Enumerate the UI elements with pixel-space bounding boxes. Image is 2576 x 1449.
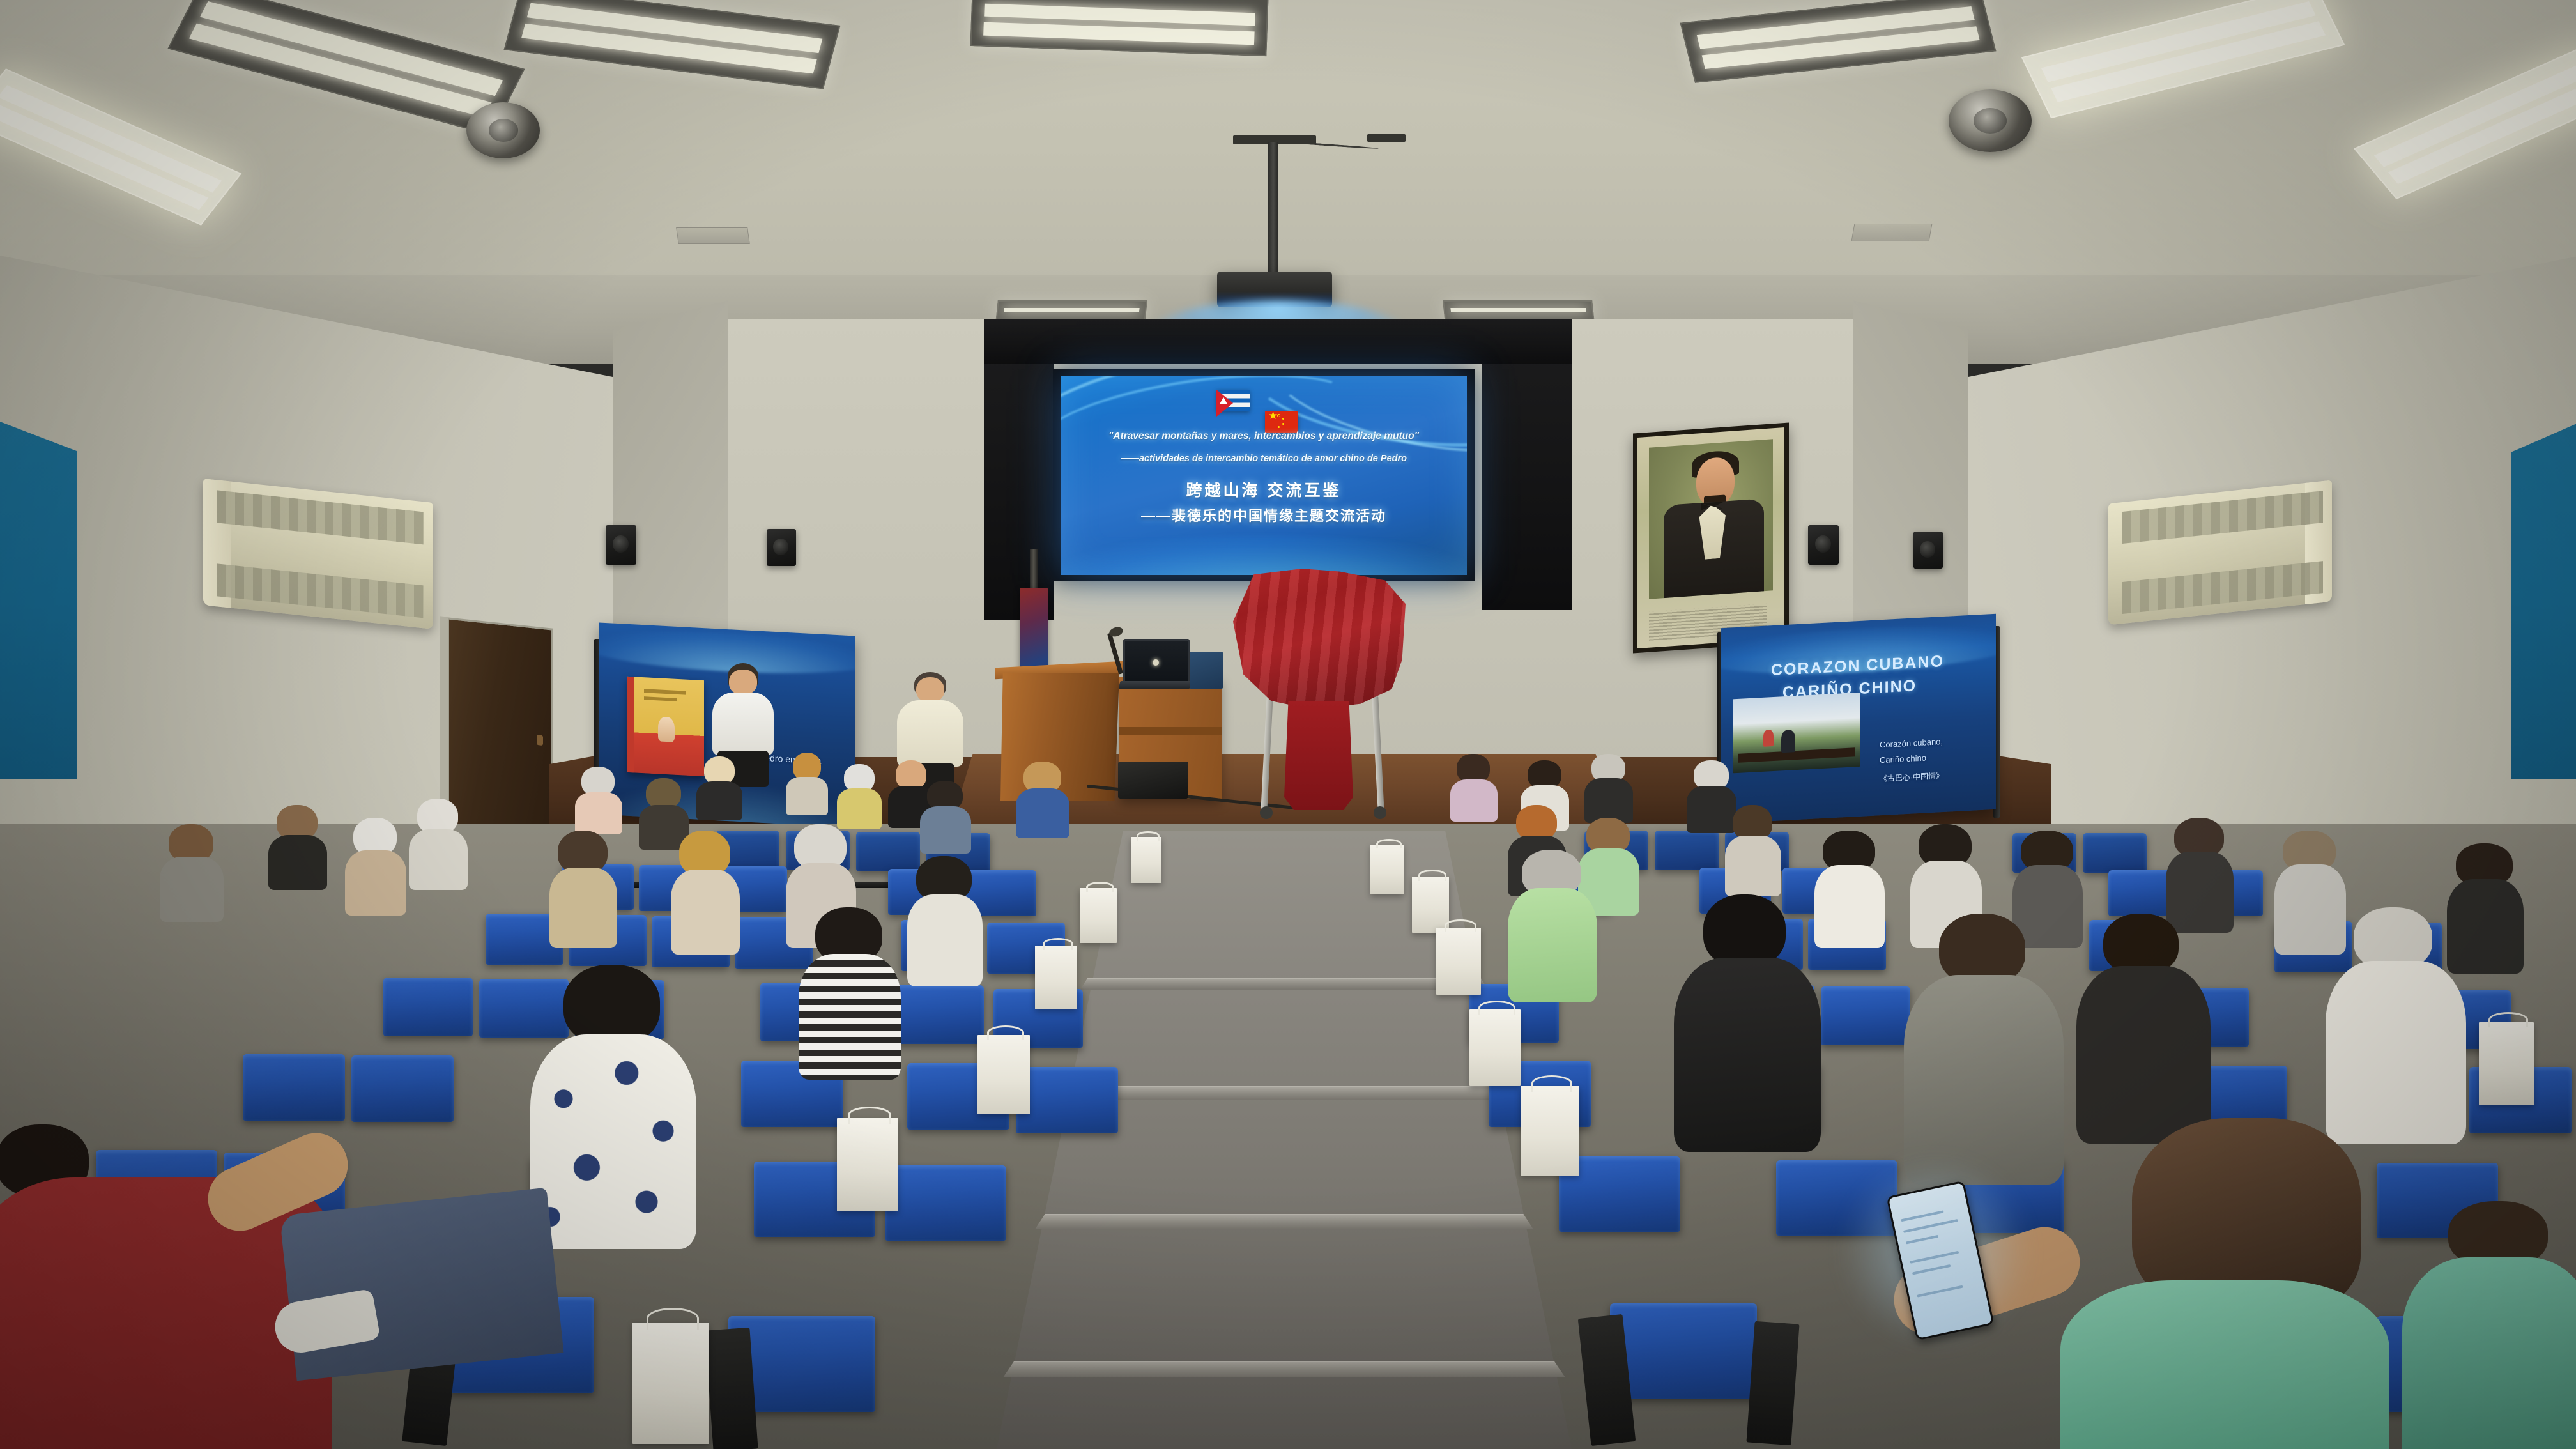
banner-right-caption-3: 《古巴心·中国情》 <box>1880 770 1943 784</box>
ceiling-dome-speaker <box>466 102 540 158</box>
seat-armrest <box>1746 1321 1799 1445</box>
aisle-step <box>1035 1214 1533 1229</box>
av-cart-shelf <box>1119 727 1222 735</box>
portrait-frame <box>1633 422 1789 653</box>
auditorium-seat[interactable] <box>885 1165 1006 1241</box>
gift-bag[interactable] <box>837 1118 898 1211</box>
proscenium-panel-left <box>984 358 1054 620</box>
proscenium-header <box>984 319 1572 364</box>
audience-member <box>1725 805 1781 894</box>
gift-bag[interactable] <box>632 1322 709 1444</box>
projector-mount-pole <box>1268 142 1278 276</box>
wall-speaker <box>606 525 636 565</box>
auditorium-seat[interactable] <box>351 1055 454 1122</box>
audience-member <box>268 805 327 888</box>
gift-bag[interactable] <box>977 1035 1030 1114</box>
audience-member <box>696 756 742 819</box>
gift-bag[interactable] <box>2479 1022 2534 1105</box>
teal-wall-panel-right <box>2511 422 2576 779</box>
ceiling-dome-speaker <box>1949 89 2032 152</box>
easel-wheel <box>1260 806 1273 819</box>
audience-member <box>2076 914 2211 1131</box>
auditorium-seat[interactable] <box>243 1054 345 1121</box>
auditorium-seat[interactable] <box>1610 1303 1757 1399</box>
audience-member <box>345 818 406 914</box>
slide-spanish-subtitle: ——actividades de intercambio temático de… <box>1061 454 1467 464</box>
projector-ceiling-plate <box>1367 134 1406 142</box>
ceiling-vent <box>676 227 750 244</box>
gift-bag[interactable] <box>1035 946 1077 1009</box>
gift-bag[interactable] <box>1080 888 1117 943</box>
audience-member-black-blazer <box>1674 894 1821 1137</box>
audience-member <box>1450 754 1498 820</box>
gift-bag[interactable] <box>1469 1009 1521 1086</box>
audience-member <box>786 753 828 814</box>
audience-member-print-dress <box>530 965 696 1233</box>
audience-member-jeans <box>280 1188 564 1381</box>
projection-screen: "Atravesar montañas y mares, intercambio… <box>1061 376 1467 575</box>
gift-bag[interactable] <box>1370 845 1404 894</box>
aisle-step <box>1061 1086 1508 1100</box>
gift-bag[interactable] <box>1436 928 1481 995</box>
wall-air-conditioner-right <box>2108 480 2332 625</box>
presentation-laptop[interactable] <box>1123 639 1190 686</box>
audience-member <box>2402 1201 2576 1449</box>
audience-member <box>907 856 983 984</box>
wall-air-conditioner-left <box>203 479 433 629</box>
audience-member <box>1814 831 1885 946</box>
slide-chinese-subtitle: ——裴德乐的中国情缘主题交流活动 <box>1061 505 1467 525</box>
teal-wall-panel-left <box>0 422 77 779</box>
audience-member <box>1016 762 1069 837</box>
china-flag <box>1265 411 1298 433</box>
book-cover-image <box>627 677 704 776</box>
aisle-step <box>1003 1361 1565 1377</box>
gift-bag[interactable] <box>1521 1086 1579 1176</box>
wall-speaker <box>1913 532 1943 569</box>
banner-right-photo <box>1733 693 1860 773</box>
slide-spanish-title: "Atravesar montañas y mares, intercambio… <box>1061 431 1467 442</box>
banner-right-caption-2: Cariño chino <box>1880 753 1926 765</box>
audience-member <box>409 799 468 888</box>
wall-speaker <box>767 529 796 566</box>
audience-member <box>837 764 882 828</box>
laptop-keyboard-base[interactable] <box>1119 681 1192 689</box>
gift-bag[interactable] <box>1412 877 1449 933</box>
auditorium-seat[interactable] <box>1016 1067 1118 1133</box>
slide-chinese-title: 跨越山海 交流互鉴 <box>1061 478 1467 501</box>
banner-right-caption-1: Corazón cubano, <box>1880 737 1943 749</box>
cuba-flag <box>1216 390 1250 411</box>
auditorium-seat[interactable] <box>2083 833 2147 873</box>
ceiling-vent <box>1851 224 1933 241</box>
gift-bag[interactable] <box>1131 837 1161 883</box>
av-equipment-box <box>1190 652 1223 689</box>
seat-armrest <box>705 1328 758 1449</box>
proscenium-panel-right <box>1482 355 1572 610</box>
auditorium-scene: "Atravesar montañas y mares, intercambio… <box>0 0 2576 1449</box>
red-cloth-skirt <box>1284 701 1353 810</box>
banner-right: CORAZON CUBANO CARIÑO CHINO Corazón cuba… <box>1721 614 1996 824</box>
audience-member <box>2326 907 2466 1131</box>
audience-member <box>1584 754 1633 822</box>
audience-member <box>160 824 224 920</box>
auditorium-seat[interactable] <box>894 985 984 1044</box>
auditorium-seat[interactable] <box>1655 831 1719 870</box>
wall-speaker <box>1808 525 1839 565</box>
auditorium-seat[interactable] <box>1821 986 1910 1045</box>
floor-monitor <box>1118 762 1188 799</box>
easel-wheel <box>1374 806 1386 819</box>
aisle-step <box>1080 977 1489 990</box>
audience-member <box>575 767 622 833</box>
audience-member <box>920 781 971 852</box>
audience-member <box>549 831 617 946</box>
audience-member-phone-user <box>2032 1118 2389 1449</box>
audience-member-striped-shirt <box>799 907 901 1073</box>
jose-marti-portrait <box>1637 427 1784 648</box>
auditorium-seat[interactable] <box>383 977 473 1036</box>
audience-member <box>671 831 740 952</box>
audience-member-green-shirt <box>1508 850 1597 997</box>
